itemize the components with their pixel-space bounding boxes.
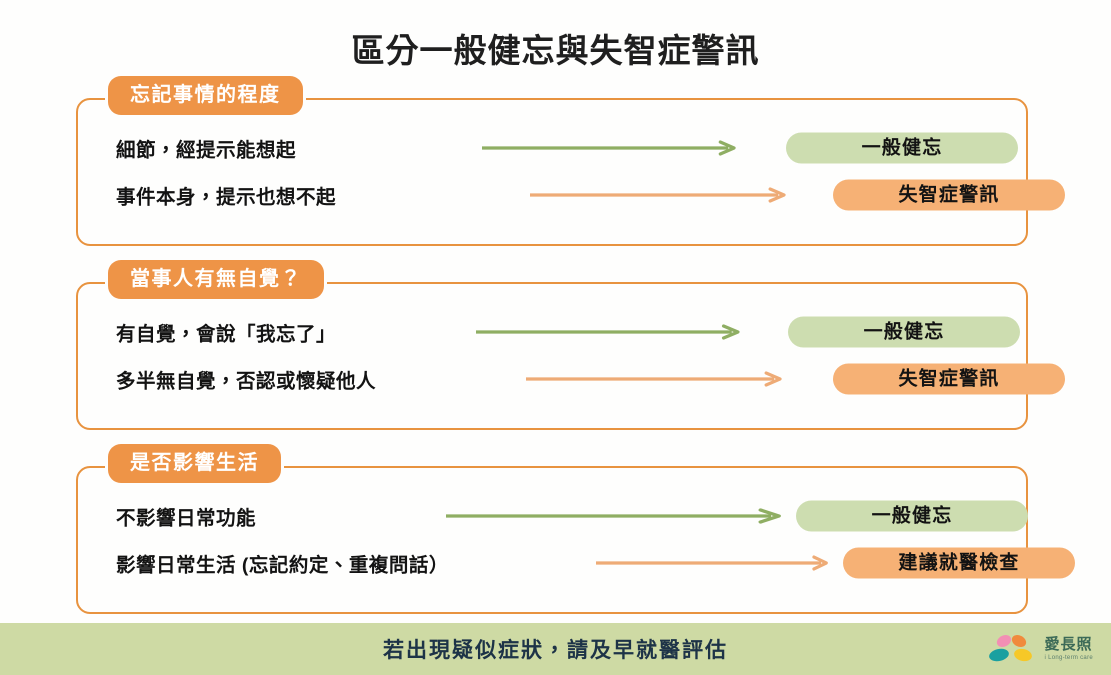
section-1-row-2: 事件本身，提示也想不起 失智症警訊 [78,175,1026,215]
footer-message: 若出現疑似症狀，請及早就醫評估 [383,634,728,664]
section-2-row-1: 有自覺，會說「我忘了」 一般健忘 [78,312,1026,352]
result-badge: 失智症警訊 [833,364,1065,395]
result-badge: 建議就醫檢查 [843,548,1075,579]
brand-text: 愛長照 i Long-term care [1045,637,1093,661]
arrow-right-green-icon [476,325,742,339]
row-label: 細節，經提示能想起 [116,134,296,163]
section-2-header: 當事人有無自覺？ [108,260,324,299]
brand-name: 愛長照 [1045,637,1093,652]
page-title: 區分一般健忘與失智症警訊 [0,24,1111,72]
section-3-header: 是否影響生活 [108,444,281,483]
arrow-right-green-icon [482,141,738,155]
section-3-row-1: 不影響日常功能 一般健忘 [78,496,1026,536]
row-label: 有自覺，會說「我忘了」 [116,318,336,347]
infographic-canvas: 區分一般健忘與失智症警訊 忘記事情的程度 細節，經提示能想起 一般健忘 事件本身… [0,0,1111,675]
row-label: 事件本身，提示也想不起 [116,181,336,210]
arrow-right-orange-icon [530,188,788,202]
result-badge: 失智症警訊 [833,180,1065,211]
section-2-row-2: 多半無自覺，否認或懷疑他人 失智症警訊 [78,359,1026,399]
row-label: 影響日常生活 (忘記約定、重複問話） [116,549,449,578]
arrow-right-green-icon [446,509,784,523]
arrow-right-orange-icon [526,372,784,386]
row-label: 不影響日常功能 [116,502,256,531]
section-3-row-2: 影響日常生活 (忘記約定、重複問話） 建議就醫檢查 [78,543,1026,583]
section-1-row-1: 細節，經提示能想起 一般健忘 [78,128,1026,168]
section-1-header: 忘記事情的程度 [108,76,303,115]
comparison-section-3: 是否影響生活 不影響日常功能 一般健忘 影響日常生活 (忘記約定、重複問話） 建… [76,466,1028,614]
brand-logo: 愛長照 i Long-term care [987,632,1093,666]
arrow-right-orange-icon [596,556,830,570]
comparison-section-2: 當事人有無自覺？ 有自覺，會說「我忘了」 一般健忘 多半無自覺，否認或懷疑他人 … [76,282,1028,430]
result-badge: 一般健忘 [788,317,1020,348]
petal-logo-icon [987,632,1039,666]
result-badge: 一般健忘 [786,133,1018,164]
brand-tagline: i Long-term care [1045,655,1093,661]
result-badge: 一般健忘 [796,501,1028,532]
footer-bar: 若出現疑似症狀，請及早就醫評估 愛長照 i Long-term care [0,623,1111,675]
row-label: 多半無自覺，否認或懷疑他人 [116,365,376,394]
comparison-section-1: 忘記事情的程度 細節，經提示能想起 一般健忘 事件本身，提示也想不起 失智症警訊 [76,98,1028,246]
